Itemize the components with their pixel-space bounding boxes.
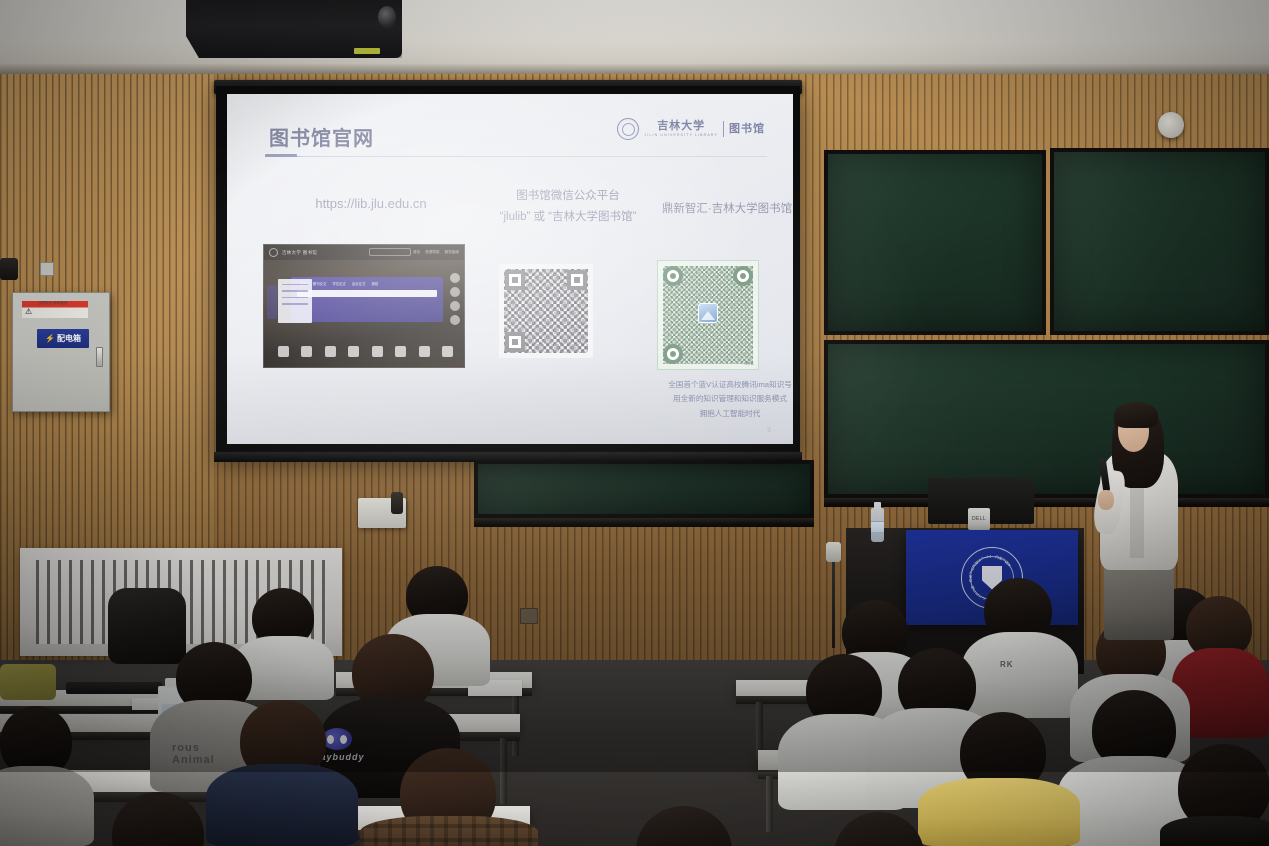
site-tab: 会议论文 [352, 281, 366, 286]
bolt-icon: ⚡ [45, 334, 55, 343]
backpack-on-radiator [108, 588, 186, 664]
ima-qr-code: ima [657, 260, 759, 370]
monitor-stand: DELL [968, 508, 990, 530]
electrical-box-latch[interactable] [96, 347, 103, 367]
jlu-seal-icon [617, 118, 639, 140]
site-service-icons [278, 346, 453, 357]
chalk-ledge-right [824, 498, 1269, 507]
site-nav-item: 资源导航 [425, 250, 439, 255]
caption-line-2: 用全新的知识管理和知识服务模式 [635, 392, 793, 406]
chalkboard-behind-screen [474, 460, 814, 518]
slide-title-rule [265, 156, 767, 157]
shirt-print-grey-tee: rous Animal [172, 742, 215, 766]
presenter-hand [1098, 490, 1114, 510]
site-search-tabs: 图书 期刊论文 学位论文 会议论文 报纸 [297, 279, 441, 287]
presenter-hair-front [1114, 402, 1158, 428]
column-2-heading-line2: “jlulib” 或 “吉林大学图书馆” [473, 207, 663, 228]
projector [186, 0, 402, 58]
chalk-ledge-center [474, 518, 814, 527]
slide-page-number: 9 [767, 427, 771, 434]
site-seal-icon [269, 248, 278, 257]
site-logo-text: 吉林大学 图书馆 [282, 250, 317, 256]
site-nav-item: 服务指南 [445, 250, 459, 255]
ceiling-edge [0, 64, 1269, 74]
wall-socket-left[interactable] [40, 262, 54, 276]
microphone-stand [832, 548, 835, 648]
column-2-heading-line1: 图书馆微信公众平台 [473, 186, 663, 207]
slide-caption: 全国首个蓝V认证高校腾讯ima知识号 用全新的知识管理和知识服务模式 拥抱人工智… [635, 378, 793, 421]
site-search-input [297, 290, 437, 297]
wall-socket-center[interactable] [520, 608, 538, 624]
electrical-box-sign: ⚡ 配电箱 [37, 329, 89, 348]
logo-divider [723, 121, 724, 137]
chalkboard-upper-left [824, 150, 1046, 335]
ima-qr-label: ima [744, 361, 754, 367]
projection-screen-bottom-bar [214, 452, 802, 462]
chalkboard-upper-right [1050, 148, 1269, 335]
wechat-qr-code [499, 264, 593, 358]
electrical-distribution-box[interactable]: 注意安全 有电危险 ⚡ 配电箱 [12, 292, 110, 412]
site-search-box [369, 248, 411, 256]
site-tab: 报纸 [371, 281, 378, 286]
projector-label [354, 48, 380, 54]
site-topbar: 吉林大学 图书馆 首页 资源导航 服务指南 [264, 245, 464, 260]
site-nav-item: 首页 [413, 250, 420, 255]
column-3-heading: 鼎新智汇·吉林大学图书馆 [647, 200, 793, 216]
shirt-graphic-playbuddy [322, 728, 352, 750]
wall-clock [1158, 112, 1184, 138]
column-2-heading: 图书馆微信公众平台 “jlulib” 或 “吉林大学图书馆” [473, 186, 663, 227]
electrical-box-sign-text: 配电箱 [57, 333, 81, 344]
projector-lens-icon [378, 6, 396, 28]
yellow-bag [0, 664, 56, 700]
chalkboard-lower-right [824, 340, 1269, 498]
column-1-heading: https://lib.jlu.edu.cn [271, 196, 471, 211]
site-side-menu [278, 279, 312, 323]
laptop-back-left [66, 682, 162, 694]
water-bottle-podium [871, 508, 884, 542]
site-nav: 首页 资源导航 服务指南 [413, 250, 459, 255]
site-left-badge [267, 285, 277, 319]
ima-logo-icon [698, 303, 718, 323]
slide-logo: 吉林大学 JILIN UNIVERSITY LIBRARY 图书馆 [617, 118, 765, 140]
presentation-slide: 图书馆官网 吉林大学 JILIN UNIVERSITY LIBRARY 图书馆 … [227, 94, 793, 444]
caption-line-1: 全国首个蓝V认证高校腾讯ima知识号 [635, 378, 793, 392]
caption-line-3: 拥抱人工智能时代 [635, 407, 793, 421]
presenter-trousers [1104, 562, 1174, 640]
emergency-light [0, 258, 18, 280]
logo-library-name: 图书馆 [729, 124, 765, 135]
site-quick-rail [450, 273, 460, 325]
slide-title-accent [265, 154, 297, 157]
slide-title: 图书馆官网 [269, 122, 374, 151]
logo-university-name: 吉林大学 [657, 121, 705, 132]
wall-speaker [358, 498, 406, 528]
shirt-print-white-tee: RK [1000, 660, 1014, 669]
library-website-screenshot: 吉林大学 图书馆 首页 资源导航 服务指南 图书 期刊论文 学位论文 会议论文 … [263, 244, 465, 368]
site-tab: 学位论文 [332, 281, 346, 286]
lecture-hall-photo: 注意安全 有电危险 ⚡ 配电箱 图书馆官网 吉林大学 JILIN UNIVERS… [0, 0, 1269, 846]
logo-english-name: JILIN UNIVERSITY LIBRARY [644, 134, 718, 138]
electrical-warning-label: 注意安全 有电危险 [22, 301, 88, 318]
projection-screen: 图书馆官网 吉林大学 JILIN UNIVERSITY LIBRARY 图书馆 … [216, 86, 800, 458]
monitor-brand-label: DELL [972, 516, 986, 522]
site-tab: 期刊论文 [313, 281, 327, 286]
